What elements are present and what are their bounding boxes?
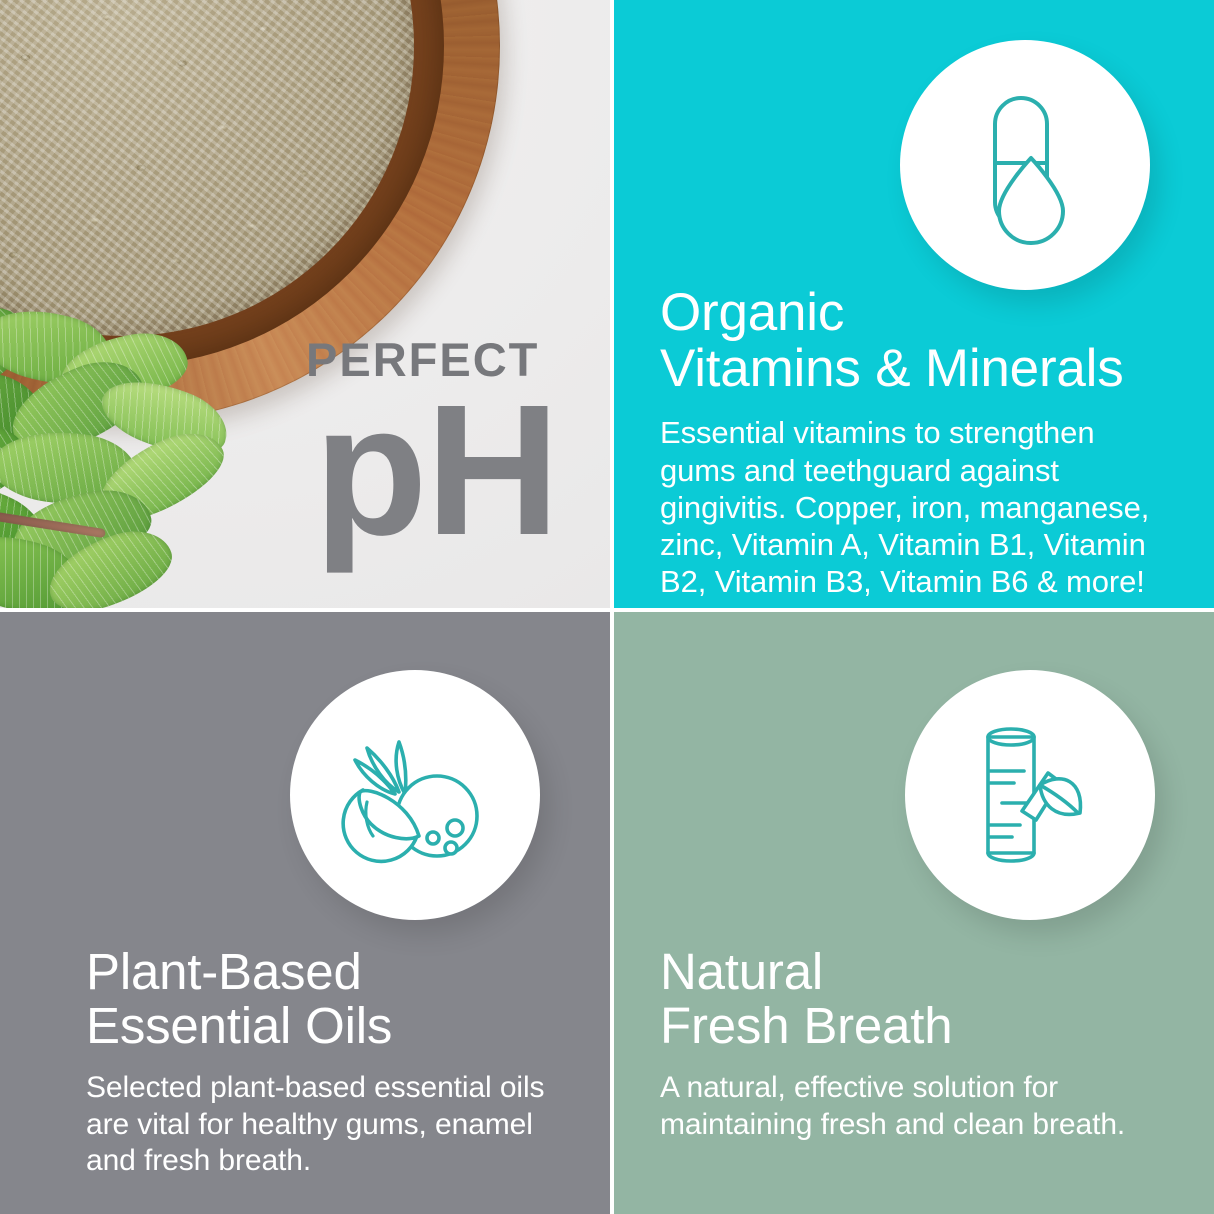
birch-trunk-leaf-icon	[954, 715, 1106, 875]
ph-lettering: pH	[314, 391, 558, 551]
plant-based-oils-body: Selected plant-based essential oils are …	[86, 1070, 586, 1180]
perfect-ph-wordmark: PERFECT pH	[306, 336, 558, 551]
natural-fresh-breath-text-panel: Natural Fresh Breath A natural, effectiv…	[660, 945, 1160, 1143]
fresh-mint-leaves	[0, 312, 264, 608]
product-benefits-infographic: PERFECT pH Organic Vitamins & Minerals E…	[0, 0, 1214, 1214]
plant-based-oils-text-panel: Plant-Based Essential Oils Selected plan…	[86, 945, 586, 1180]
plant-based-oils-heading: Plant-Based Essential Oils	[86, 945, 586, 1053]
natural-fresh-breath-body: A natural, effective solution for mainta…	[660, 1070, 1160, 1143]
coconut-leaves-icon-circle	[290, 670, 540, 920]
capsule-droplet-icon	[950, 80, 1100, 250]
quadrant-perfect-ph: PERFECT pH	[0, 0, 610, 608]
birch-trunk-leaf-icon-circle	[905, 670, 1155, 920]
organic-vitamins-body: Essential vitamins to strengthen gums an…	[660, 414, 1172, 600]
coconut-leaves-icon	[333, 720, 497, 870]
organic-vitamins-text-panel: Organic Vitamins & Minerals Essential vi…	[660, 285, 1172, 600]
capsule-droplet-icon-circle	[900, 40, 1150, 290]
organic-vitamins-heading: Organic Vitamins & Minerals	[660, 285, 1172, 397]
natural-fresh-breath-heading: Natural Fresh Breath	[660, 945, 1160, 1053]
